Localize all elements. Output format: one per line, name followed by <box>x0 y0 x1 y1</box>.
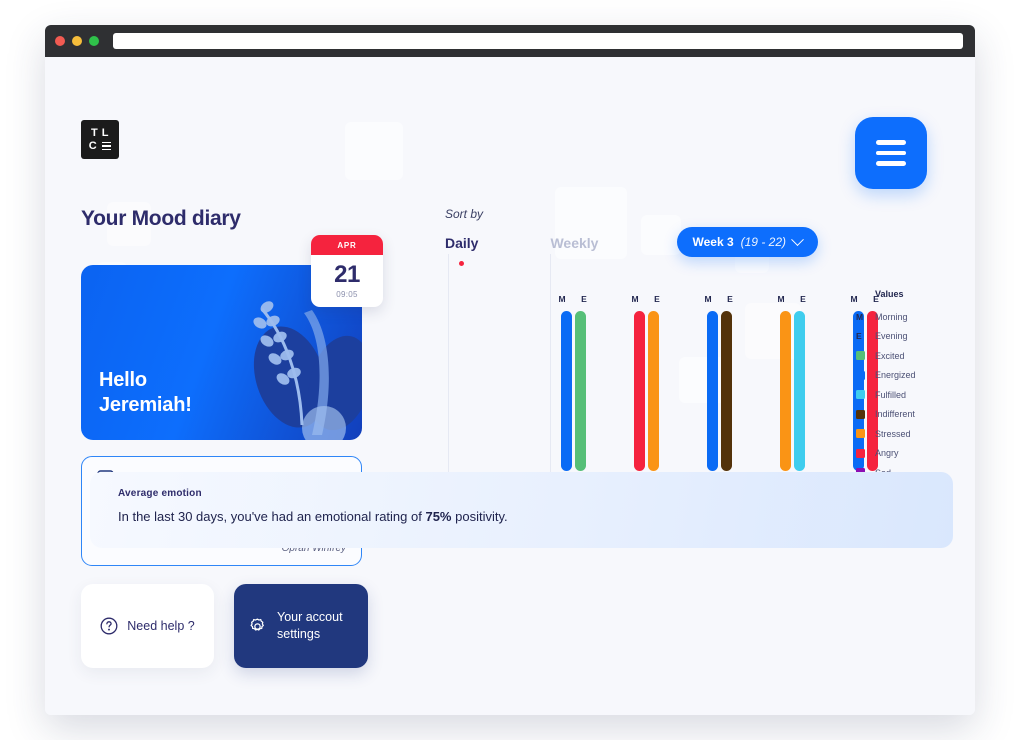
slot-label-e: E <box>799 294 807 304</box>
hamburger-icon <box>876 161 906 166</box>
menu-button[interactable] <box>855 117 927 189</box>
gear-icon <box>248 617 267 636</box>
bar-pair <box>772 311 812 471</box>
slot-label-e: E <box>580 294 588 304</box>
calendar-widget: APR 21 09:05 <box>311 235 383 307</box>
need-help-button[interactable]: Need help ? <box>81 584 214 668</box>
bar-m-angry[interactable] <box>634 311 645 471</box>
logo-letters-tl: T L <box>91 128 109 139</box>
slot-label-m: M <box>558 294 566 304</box>
decorative-square <box>345 122 403 180</box>
tab-inactive-indicator <box>572 261 577 266</box>
left-panel: Your Mood diary <box>81 207 371 668</box>
average-text-suffix: positivity. <box>452 509 508 524</box>
legend-key-item: MMorning <box>853 307 953 327</box>
minimize-window-button[interactable] <box>72 36 82 46</box>
slot-label-e: E <box>653 294 661 304</box>
greeting-line-2: Jeremiah! <box>99 393 192 418</box>
bar-pair <box>553 311 593 471</box>
slot-label-m: M <box>631 294 639 304</box>
need-help-label: Need help ? <box>127 619 194 633</box>
legend-title: Values <box>853 289 953 299</box>
logo-bottom-row: C <box>89 141 111 152</box>
legend-swatch <box>856 351 865 360</box>
app-page: T L C Your Mood diary <box>45 57 975 715</box>
week-picker-dropdown[interactable]: Week 3 (19 - 22) <box>677 227 819 257</box>
chart-bar-groups: MEMEMEMEME <box>553 294 885 471</box>
action-buttons: Need help ? Your accout settings <box>81 584 371 668</box>
account-settings-label: Your accout settings <box>277 609 354 643</box>
sort-tabs: Daily Weekly Week 3 (19 - 22) <box>445 235 953 266</box>
tab-daily[interactable]: Daily <box>445 235 478 266</box>
bar-e-indifferent[interactable] <box>721 311 732 471</box>
logo-letter-c: C <box>89 141 97 152</box>
legend-entry-label: Stressed <box>875 429 911 439</box>
slot-label-m: M <box>777 294 785 304</box>
hamburger-icon <box>876 140 906 145</box>
legend-key-list: MMorningEEvening <box>853 307 953 346</box>
legend-entry-label: Fulfilled <box>875 390 906 400</box>
legend-key-label: Morning <box>875 312 908 322</box>
question-circle-icon <box>100 617 118 635</box>
legend-swatch <box>856 371 865 380</box>
average-text-prefix: In the last 30 days, you've had an emoti… <box>118 509 425 524</box>
average-emotion-card: Average emotion In the last 30 days, you… <box>90 472 953 548</box>
greeting-text: Hello Jeremiah! <box>99 368 192 418</box>
average-value: 75% <box>425 509 451 524</box>
logo-top-row: T L <box>91 128 109 139</box>
bar-group: ME <box>626 294 666 471</box>
calendar-day: 21 <box>311 255 383 290</box>
chart-legend: Values MMorningEEvening ExcitedEnergized… <box>853 289 953 483</box>
bar-group: ME <box>553 294 593 471</box>
sort-by-label: Sort by <box>445 207 953 221</box>
app-logo: T L C <box>81 120 119 159</box>
bar-pair <box>699 311 739 471</box>
bar-e-stressed[interactable] <box>648 311 659 471</box>
bar-group: ME <box>772 294 812 471</box>
week-picker-label: Week 3 <box>693 235 734 249</box>
slot-label-e: E <box>726 294 734 304</box>
legend-entry: Excited <box>853 346 953 366</box>
bar-e-fulfilled[interactable] <box>794 311 805 471</box>
bar-group-slot-labels: ME <box>553 294 593 304</box>
legend-entry-label: Excited <box>875 351 905 361</box>
bar-group-slot-labels: ME <box>699 294 739 304</box>
legend-entry-label: Indifferent <box>875 409 915 419</box>
legend-swatch <box>856 429 865 438</box>
legend-swatch <box>856 449 865 458</box>
bar-e-excited[interactable] <box>575 311 586 471</box>
maximize-window-button[interactable] <box>89 36 99 46</box>
address-bar[interactable] <box>113 33 963 49</box>
page-title: Your Mood diary <box>81 207 371 231</box>
legend-key-label: Evening <box>875 331 908 341</box>
account-settings-button[interactable]: Your accout settings <box>234 584 368 668</box>
tab-active-indicator <box>459 261 464 266</box>
legend-entry-list: ExcitedEnergizedFulfilledIndifferentStre… <box>853 346 953 483</box>
window-controls <box>55 36 99 46</box>
chevron-down-icon <box>791 233 804 246</box>
legend-entry: Angry <box>853 444 953 464</box>
average-emotion-title: Average emotion <box>118 488 925 499</box>
close-window-button[interactable] <box>55 36 65 46</box>
hamburger-icon <box>876 151 906 156</box>
legend-entry: Stressed <box>853 424 953 444</box>
legend-entry: Fulfilled <box>853 385 953 405</box>
logo-bars-icon <box>102 142 111 151</box>
greeting-card-wrap: Hello Jeremiah! APR 21 09:05 <box>81 265 371 440</box>
calendar-time: 09:05 <box>311 290 383 307</box>
bar-pair <box>626 311 666 471</box>
legend-key: M <box>853 312 875 322</box>
tab-daily-label: Daily <box>445 235 478 251</box>
tab-weekly[interactable]: Weekly <box>550 235 598 266</box>
greeting-line-1: Hello <box>99 368 192 393</box>
bar-group: ME <box>699 294 739 471</box>
legend-entry-label: Energized <box>875 370 916 380</box>
tab-weekly-label: Weekly <box>550 235 598 251</box>
legend-swatch <box>856 410 865 419</box>
bar-group-slot-labels: ME <box>626 294 666 304</box>
bar-m-energized[interactable] <box>561 311 572 471</box>
legend-key-item: EEvening <box>853 327 953 347</box>
bar-m-energized[interactable] <box>707 311 718 471</box>
calendar-month: APR <box>311 235 383 255</box>
legend-key: E <box>853 331 875 341</box>
legend-entry: Indifferent <box>853 405 953 425</box>
bar-m-stressed[interactable] <box>780 311 791 471</box>
week-picker-range: (19 - 22) <box>741 235 786 249</box>
browser-titlebar <box>45 25 975 57</box>
slot-label-m: M <box>704 294 712 304</box>
browser-window: T L C Your Mood diary <box>45 25 975 715</box>
legend-entry: Energized <box>853 366 953 386</box>
legend-entry-label: Angry <box>875 448 899 458</box>
average-emotion-text: In the last 30 days, you've had an emoti… <box>118 509 925 524</box>
bar-group-slot-labels: ME <box>772 294 812 304</box>
legend-swatch <box>856 390 865 399</box>
